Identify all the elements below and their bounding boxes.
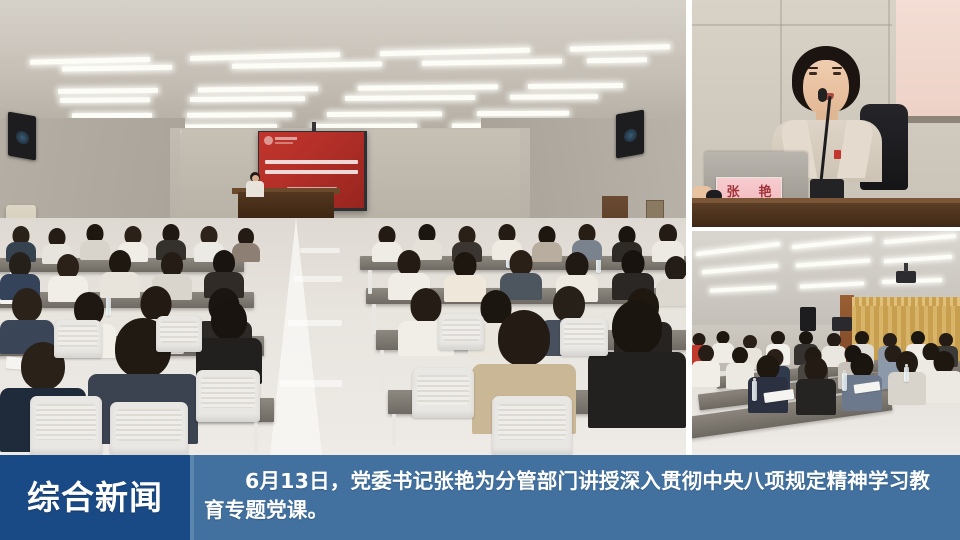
speaker-eyebrow-left bbox=[808, 67, 818, 69]
desk-leg bbox=[372, 304, 376, 334]
audience-ceiling-projector bbox=[896, 271, 916, 283]
curtain-valance bbox=[852, 297, 960, 306]
speaker-eye-right bbox=[833, 72, 841, 75]
water-bottle bbox=[904, 367, 909, 382]
audience-member bbox=[692, 345, 720, 387]
party-emblem-badge bbox=[834, 150, 841, 159]
caption-text: 6月13日，党委书记张艳为分管部门讲授深入贯彻中央八项规定精神学习教育专题党课。 bbox=[204, 467, 946, 525]
chair bbox=[156, 316, 202, 352]
chair bbox=[196, 370, 260, 422]
chair bbox=[54, 320, 102, 358]
floor-reflection-4 bbox=[280, 380, 342, 387]
nameplate-surname: 张 bbox=[726, 186, 739, 199]
audience-member-foreground bbox=[796, 357, 836, 415]
slide-title-line-2 bbox=[265, 170, 358, 174]
speaker-portrait-photo: 张 艳 bbox=[692, 0, 960, 227]
caption-bar: 综合新闻 6月13日，党委书记张艳为分管部门讲授深入贯彻中央八项规定精神学习教育… bbox=[0, 455, 960, 540]
water-bottle bbox=[752, 381, 757, 401]
floor-reflection-1 bbox=[300, 248, 340, 253]
speaker-eyebrow-right bbox=[832, 67, 842, 69]
main-lecture-hall-photo bbox=[0, 0, 686, 455]
news-category-block: 综合新闻 bbox=[0, 455, 190, 540]
center-aisle bbox=[270, 218, 322, 455]
university-logo-icon bbox=[264, 136, 298, 145]
microphone-head bbox=[818, 88, 827, 102]
chair bbox=[438, 314, 484, 350]
news-category-label: 综合新闻 bbox=[27, 481, 163, 514]
audience-member-foreground bbox=[926, 351, 960, 403]
water-bottle bbox=[842, 373, 847, 391]
audience-view-photo bbox=[692, 231, 960, 455]
floor-reflection-2 bbox=[294, 276, 342, 282]
chair bbox=[30, 396, 102, 455]
desk-leg bbox=[392, 414, 396, 446]
floor-reflection-3 bbox=[288, 320, 342, 326]
desk-leg bbox=[254, 422, 258, 452]
chair bbox=[110, 402, 188, 455]
background-projection-panel bbox=[896, 0, 960, 116]
nameplate-given-name: 艳 bbox=[758, 186, 771, 199]
caption-divider bbox=[190, 455, 194, 540]
wall-speaker-right bbox=[616, 110, 644, 159]
speaker-eye-left bbox=[809, 72, 817, 75]
slide-title-line-1 bbox=[265, 160, 358, 164]
rostrum-front bbox=[692, 203, 960, 227]
hall-speaker-person bbox=[246, 172, 264, 196]
wall-speaker-left bbox=[8, 112, 36, 161]
wall-speaker bbox=[800, 307, 816, 331]
chair bbox=[492, 396, 572, 455]
chair bbox=[412, 368, 474, 418]
news-collage-page: 张 艳 bbox=[0, 0, 960, 540]
wall-monitor bbox=[832, 317, 852, 331]
desk-leg bbox=[368, 270, 372, 294]
chair bbox=[560, 318, 608, 356]
desk-leg bbox=[380, 350, 384, 392]
caption-body: 6月13日，党委书记张艳为分管部门讲授深入贯彻中央八项规定精神学习教育专题党课。 bbox=[190, 455, 960, 540]
wall-seam-horizontal bbox=[692, 24, 892, 26]
